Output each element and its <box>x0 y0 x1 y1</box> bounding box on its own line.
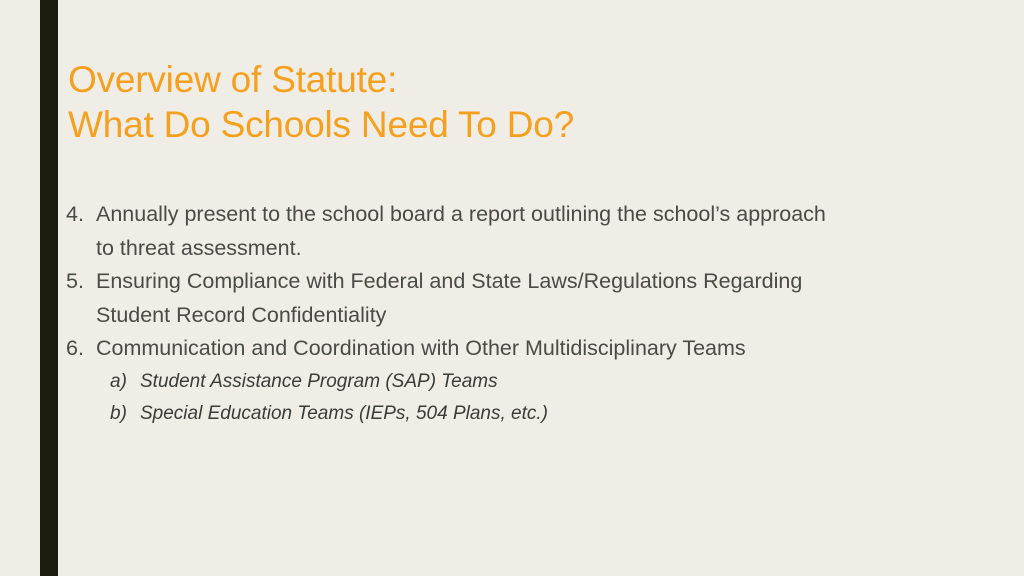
sub-list-item: a) Student Assistance Program (SAP) Team… <box>110 366 966 398</box>
slide-body: 4. Annually present to the school board … <box>66 198 966 430</box>
sub-list-item-marker: a) <box>110 366 136 398</box>
list-item-marker: 6. <box>66 332 92 366</box>
sub-list-item: b) Special Education Teams (IEPs, 504 Pl… <box>110 398 966 430</box>
list-item-marker: 5. <box>66 265 92 299</box>
list-item-text: Annually present to the school board a r… <box>96 198 826 265</box>
title-line-1: Overview of Statute: <box>68 57 948 102</box>
list-item-marker: 4. <box>66 198 92 232</box>
numbered-list: 4. Annually present to the school board … <box>66 198 966 430</box>
sub-list: a) Student Assistance Program (SAP) Team… <box>96 366 966 430</box>
slide-title: Overview of Statute: What Do Schools Nee… <box>68 57 948 147</box>
slide-canvas: Overview of Statute: What Do Schools Nee… <box>0 0 1024 576</box>
list-item: 6. Communication and Coordination with O… <box>66 332 966 430</box>
list-item-text: Communication and Coordination with Othe… <box>96 332 826 366</box>
list-item: 5. Ensuring Compliance with Federal and … <box>66 265 966 332</box>
sub-list-item-text: Student Assistance Program (SAP) Teams <box>140 366 966 398</box>
title-line-2: What Do Schools Need To Do? <box>68 102 948 147</box>
sub-list-item-text: Special Education Teams (IEPs, 504 Plans… <box>140 398 966 430</box>
list-item: 4. Annually present to the school board … <box>66 198 966 265</box>
left-accent-bar <box>40 0 58 576</box>
sub-list-item-marker: b) <box>110 398 136 430</box>
list-item-text: Ensuring Compliance with Federal and Sta… <box>96 265 826 332</box>
